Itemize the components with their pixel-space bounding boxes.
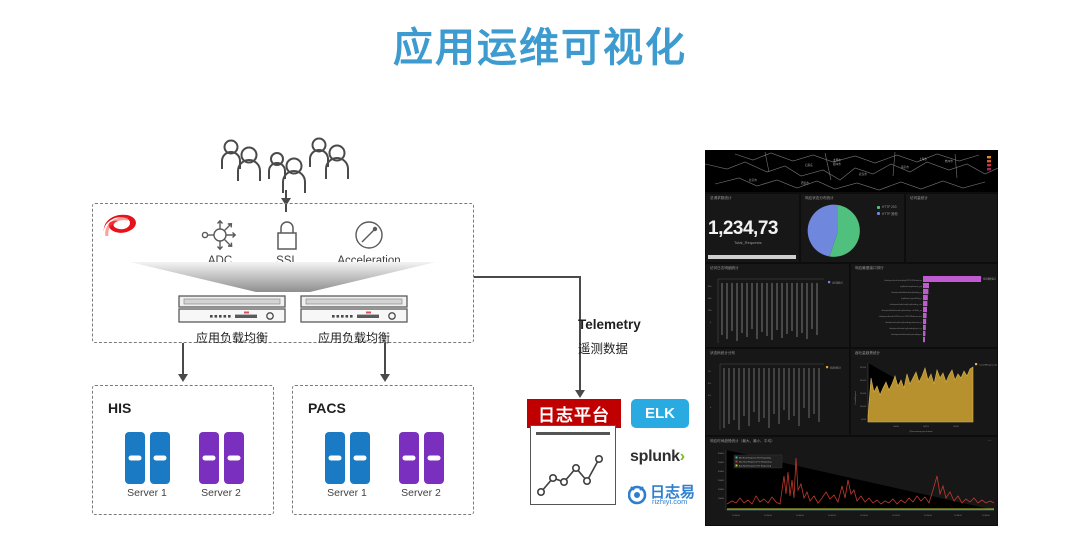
svg-text:14:10:00: 14:10:00: [860, 515, 869, 517]
rizhiyi-logo: 日志易 rizhiyi.com: [628, 482, 704, 508]
dashboard-log-list-panel: 访问日志明细统计 600400 2000: [706, 264, 849, 347]
svg-text:/data/portal/onlineloading/%2F: /data/portal/onlineloading/%2F%2F.Broker…: [884, 279, 922, 282]
his-title: HIS: [108, 400, 131, 416]
svg-text:杭州市: 杭州市: [945, 159, 953, 163]
svg-text:40000: 40000: [718, 471, 725, 473]
svg-text:Max Real Response Per Requesti: Max Real Response Per Requesting: [739, 461, 771, 464]
svg-text:50000: 50000: [718, 462, 725, 464]
svg-text:0: 0: [710, 407, 712, 409]
rack-appliance-icon: [300, 295, 408, 323]
pie-legend-label-1: HTTP 200: [882, 205, 896, 209]
feature-acceleration: Acceleration: [314, 218, 424, 267]
svg-text:15,000: 15,000: [860, 393, 867, 395]
rack-appliance-icon: [178, 295, 286, 323]
pie-legend-label-2: HTTP 其他: [882, 211, 898, 216]
panel-title: 访问日志明细统计: [710, 266, 739, 271]
connector-to-his: [182, 343, 184, 377]
funnel-cone-shape: [130, 262, 436, 298]
panel-title: 响应时间趋势统计（最大、最小、平均）: [710, 439, 775, 444]
pacs-server-1: Server 1: [317, 432, 377, 499]
connector-telemetry-horizontal: [474, 276, 581, 278]
people-icon: [215, 135, 355, 197]
svg-text:20000: 20000: [718, 489, 725, 491]
svg-text:10000: 10000: [718, 498, 725, 500]
svg-text:13:40:00: 13:40:00: [732, 515, 741, 517]
svg-text:南京市: 南京市: [901, 165, 909, 169]
speedometer-icon: [314, 218, 424, 252]
load-balancer-1: 应用负载均衡: [178, 295, 286, 346]
server-blades-icon: [317, 432, 377, 484]
svg-text:60000: 60000: [718, 453, 725, 455]
dashboard-response-time-panel: 响应时间趋势统计（最大、最小、平均） ··· 6000050000 400003…: [706, 437, 997, 525]
svg-text:Avg Real Response Per Requesti: Avg Real Response Per Requesting: [739, 465, 771, 468]
svg-text:状态码统计: 状态码统计: [830, 365, 842, 369]
svg-text:14:00:00: 14:00:00: [796, 515, 805, 517]
response-time-line-chart: 6000050000 4000030000 2000010000 Min Rea…: [706, 446, 997, 525]
svg-text:14:20:00: 14:20:00: [924, 515, 933, 517]
svg-text:北京市: 北京市: [749, 178, 757, 182]
svg-text:西安市: 西安市: [801, 181, 809, 185]
load-balancer-2: 应用负载均衡: [300, 295, 408, 346]
line-chart-icon: [530, 425, 616, 505]
svg-text:14:15:00: 14:15:00: [892, 515, 901, 517]
dashboard-status-code-panel: 状态码统计分布 1.00.8 0.40 状态码统计: [706, 349, 849, 435]
dashboard-map-panel: 北京市石家庄 太原市郑州市 武汉市西安市 南京市上海市 杭州市: [705, 150, 998, 192]
pie-legend-dot-2: [877, 212, 880, 215]
pacs-title: PACS: [308, 400, 346, 416]
svg-text:Min Real Response Per Requesti: Min Real Response Per Requesting: [739, 457, 771, 460]
splunk-chevron-icon: ›: [680, 448, 685, 465]
svg-text:0.8: 0.8: [708, 383, 712, 385]
pacs-server-1-label: Server 1: [317, 487, 377, 499]
svg-text:/data/portal/edit/medic/cgi/lo: /data/portal/edit/medic/cgi/loading_js: [891, 291, 922, 294]
svg-text:Count/Request: Count/Request: [854, 391, 857, 405]
telemetry-arrow-head-icon: [575, 390, 585, 398]
total-requests-sublabel: Total_Requests: [734, 240, 762, 245]
status-pie-chart: [807, 203, 869, 259]
his-server-2-label: Server 2: [191, 487, 251, 499]
svg-text:600: 600: [708, 286, 712, 288]
dashboard-status-pie-panel: 响应状态分布统计 HTTP 200 HTTP 其他: [801, 194, 904, 262]
svg-text:/data/portal/medic/cgi/loading: /data/portal/medic/cgi/loading/cgi-ctr_j…: [889, 327, 922, 330]
pie-legend-dot-1: [877, 206, 880, 209]
panel-scrollbar[interactable]: [708, 255, 796, 259]
connector-to-pacs: [384, 343, 386, 377]
panel-title: 吞吐量趋势统计: [855, 351, 880, 356]
svg-text:0.4: 0.4: [708, 395, 712, 397]
svg-text:400: 400: [708, 298, 712, 300]
svg-text:20,000: 20,000: [860, 380, 867, 382]
svg-text:10,000: 10,000: [860, 406, 867, 408]
rizhiyi-logo-sublabel: rizhiyi.com: [652, 497, 687, 506]
dashboard-top-urls-panel: 访问量统计: [906, 194, 997, 262]
svg-text:@timestamp per minute: @timestamp per minute: [909, 430, 933, 433]
pacs-server-2: Server 2: [391, 432, 451, 499]
svg-text:1.0: 1.0: [708, 371, 712, 373]
panel-title: 状态码统计分布: [710, 351, 735, 356]
his-arrow-head-icon: [178, 374, 188, 382]
svg-text:14:40:00: 14:40:00: [982, 515, 991, 517]
svg-text:04:15: 04:15: [923, 426, 929, 428]
panel-title: 响应状态分布统计: [805, 196, 834, 201]
svg-text:25,000: 25,000: [860, 367, 867, 369]
his-server-1: Server 1: [117, 432, 177, 499]
total-requests-value: 1,234,73: [708, 218, 778, 240]
svg-text:/cgi/broker/cgi-edit%bj_js: /cgi/broker/cgi-edit%bj_js: [901, 297, 922, 300]
his-server-2: Server 2: [191, 432, 251, 499]
svg-text:14:30:00: 14:30:00: [954, 515, 963, 517]
svg-text:上海市: 上海市: [919, 157, 927, 161]
telemetry-label-zh: 遥测数据: [578, 338, 628, 357]
svg-text:/data/portal/medic/%2Fsource.%: /data/portal/medic/%2Fsource.%2F%2Fdbsou…: [879, 315, 923, 318]
svg-text:/data/portal/edit/medic/cgi/lo: /data/portal/edit/medic/cgi/loading_cha: [890, 303, 923, 306]
load-balancer-1-label: 应用负载均衡: [178, 329, 286, 346]
svg-text:5,000: 5,000: [861, 419, 867, 421]
svg-text:0: 0: [710, 322, 712, 324]
elk-button[interactable]: ELK: [631, 399, 689, 428]
connector-telemetry-vertical: [579, 276, 581, 392]
svg-text:200: 200: [708, 310, 712, 312]
svg-text:04:30: 04:30: [953, 426, 959, 428]
log-platform-button[interactable]: 日志平台: [527, 399, 621, 428]
svg-text:太原市: 太原市: [833, 158, 841, 162]
svg-text:/cgi/broker/cgi-browse_jsp: /cgi/broker/cgi-browse_jsp: [900, 285, 922, 288]
dashboard-bar-rank-panel: 响应最慢接口排行 /data/portal/onlineloading/%2F%…: [851, 264, 997, 347]
pacs-server-2-label: Server 2: [391, 487, 451, 499]
slide-canvas: 应用运维可视化: [0, 0, 1080, 541]
splunk-logo-label: splunk: [630, 448, 680, 465]
svg-text:04:00: 04:00: [893, 426, 899, 428]
svg-text:/data/portal/edit/medic/cgi/lo: /data/portal/edit/medic/cgi/loading-c.ct…: [882, 309, 922, 312]
svg-text:访问量统计: 访问量统计: [832, 280, 844, 284]
his-server-1-label: Server 1: [117, 487, 177, 499]
radware-swirl-logo: [98, 209, 142, 245]
panel-title: 访问量统计: [910, 196, 928, 201]
panel-menu-icon[interactable]: ···: [988, 439, 992, 443]
throughput-area-chart: 25,00020,000 15,00010,000 5,000 04:0004:…: [851, 358, 997, 435]
svg-text:响应最慢接口: 响应最慢接口: [983, 276, 996, 280]
svg-text:石家庄: 石家庄: [805, 163, 813, 167]
svg-text:Count/Request_throughput: Count/Request_throughput: [979, 363, 997, 366]
dashboard-total-requests-panel: 总请求数统计 1,234,73 Total_Requests: [706, 194, 799, 262]
svg-text:30000: 30000: [718, 480, 725, 482]
page-title: 应用运维可视化: [0, 20, 1080, 76]
svg-text:郑州市: 郑州市: [833, 162, 841, 166]
svg-text:/data/portal/medic/cgi/loading: /data/portal/medic/cgi/loading/cgi-brows…: [885, 321, 922, 324]
telemetry-label-en: Telemetry: [578, 317, 641, 332]
server-blades-icon: [117, 432, 177, 484]
svg-text:/data/portal/edit/medic/cgi-lo: /data/portal/edit/medic/cgi-loading-cs: [891, 333, 922, 336]
load-balancer-2-label: 应用负载均衡: [300, 329, 408, 346]
server-blades-icon: [391, 432, 451, 484]
svg-text:14:05:00: 14:05:00: [828, 515, 837, 517]
svg-text:武汉市: 武汉市: [859, 172, 867, 176]
server-blades-icon: [191, 432, 251, 484]
splunk-logo: splunk›: [630, 448, 685, 466]
svg-text:13:50:00: 13:50:00: [764, 515, 773, 517]
panel-title: 总请求数统计: [710, 196, 732, 201]
panel-title: 响应最慢接口排行: [855, 266, 884, 271]
log-dashboard-screenshot[interactable]: 北京市石家庄 太原市郑州市 武汉市西安市 南京市上海市 杭州市 总请求数统计 1…: [705, 150, 998, 526]
pacs-arrow-head-icon: [380, 374, 390, 382]
dashboard-throughput-panel: 吞吐量趋势统计 25,00020,000 15,00010,000 5,000 …: [851, 349, 997, 435]
